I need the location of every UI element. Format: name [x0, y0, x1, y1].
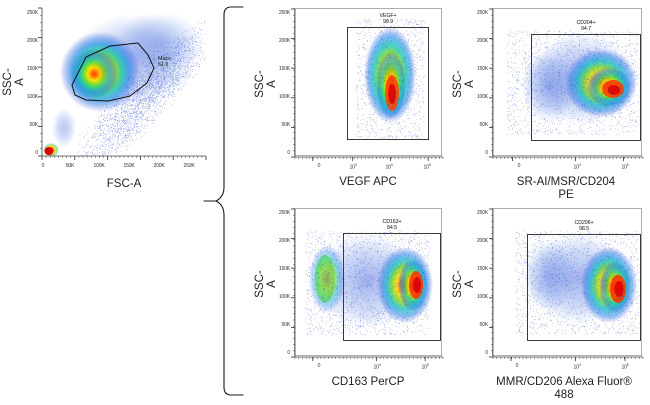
- cd163-gate-rect[interactable]: [343, 233, 441, 341]
- cd204-ytick-0: 0: [466, 150, 488, 156]
- parent-ytick-250k: 250K: [16, 10, 38, 16]
- cd204-xtick-1e5-exp: 5: [627, 163, 629, 167]
- parent-ytick-100k: 100K: [16, 94, 38, 100]
- vegf-xtick-1e4-exp: 4: [391, 163, 393, 167]
- cd206-xtick-0: 0: [508, 363, 526, 369]
- parent-xtick-50k: 50K: [59, 163, 81, 169]
- cd206-y-axis-line1: SSC-: [452, 270, 464, 297]
- cd206-gate-rect[interactable]: [527, 234, 641, 341]
- cd163-ytick-100k: 100K: [268, 294, 290, 300]
- parent-ytick-50k: 50K: [16, 122, 38, 128]
- cd163-y-axis-line1: SSC-: [254, 270, 266, 297]
- cd204-gate-label: CD204+ 94.7: [531, 20, 641, 32]
- vegf-ytick-50k: 50K: [268, 122, 290, 128]
- cd163-gate-value: 84.5: [387, 225, 397, 231]
- panel-parent-fsc-ssc: SSC- A 250K 200K 150K 100K 50K 0: [0, 0, 215, 200]
- vegf-gate-name: VEGF+: [379, 13, 396, 19]
- cd206-gate-value: 98.5: [579, 226, 589, 232]
- vegf-x-axis-line1: VEGF APC: [339, 176, 397, 188]
- cd163-gate-label: CD163+ 84.5: [343, 219, 441, 231]
- vegf-xtick-1e3-exp: 3: [355, 163, 357, 167]
- vegf-y-axis-line1: SSC-: [254, 70, 266, 97]
- panel-cd163: SSC- A 250K 200K 150K 100K 50K 0: [248, 200, 444, 405]
- vegf-ytick-150k: 150K: [268, 66, 290, 72]
- vegf-plot-area: VEGF+ 99.9: [294, 8, 442, 156]
- vegf-xtick-1e3: 103: [344, 163, 362, 171]
- cd204-plot-area: CD204+ 94.7: [492, 8, 642, 156]
- cd163-ytick-200k: 200K: [268, 238, 290, 244]
- cd206-gate-label: CD206+ 98.5: [527, 220, 641, 232]
- cd206-x-axis-title: MMR/CD206 Alexa Fluor® 488: [478, 376, 650, 401]
- flow-cytometry-figure: SSC- A 250K 200K 150K 100K 50K 0: [0, 0, 650, 405]
- curly-brace-icon: [213, 4, 253, 400]
- parent-xtick-250k: 250K: [177, 163, 201, 169]
- parent-xtick-200k: 200K: [147, 163, 171, 169]
- brace-connector: [213, 4, 253, 400]
- cd163-gate-name: CD163+: [383, 219, 402, 225]
- cd163-xtick-1e4-exp: 4: [379, 363, 381, 367]
- cd163-x-axis-title: CD163 PerCP: [294, 376, 442, 389]
- vegf-ytick-0: 0: [268, 150, 290, 156]
- cd163-ytick-0: 0: [268, 350, 290, 356]
- cd206-ytick-0: 0: [466, 350, 488, 356]
- cd204-xtick-1e5: 105: [616, 163, 634, 171]
- cd163-xtick-1e4: 104: [368, 363, 386, 371]
- parent-xtick-150k: 150K: [117, 163, 141, 169]
- parent-y-axis-line1: SSC-: [2, 68, 14, 95]
- cd204-xtick-0: 0: [510, 163, 528, 169]
- cd163-xtick-0: 0: [310, 363, 328, 369]
- cd204-xtick-1e4: 104: [568, 163, 586, 171]
- cd206-ytick-200k: 200K: [466, 238, 488, 244]
- cd204-ytick-250k: 250K: [466, 10, 488, 16]
- cd206-x-axis-line1: MMR/CD206 Alexa Fluor®: [496, 376, 632, 388]
- cd204-ytick-50k: 50K: [466, 122, 488, 128]
- cd163-x-axis-line1: CD163 PerCP: [332, 376, 405, 388]
- vegf-xtick-1e5: 105: [418, 163, 436, 171]
- cd204-ytick-200k: 200K: [466, 38, 488, 44]
- cd206-ytick-150k: 150K: [466, 266, 488, 272]
- parent-x-axis-title: FSC-A: [42, 178, 206, 191]
- parent-ytick-0: 0: [16, 150, 38, 156]
- vegf-xtick-0: 0: [310, 163, 328, 169]
- parent-gate-value: 61.1: [158, 62, 169, 68]
- cd206-xtick-1e5-exp: 5: [627, 363, 629, 367]
- cd163-ytick-250k: 250K: [268, 210, 290, 216]
- panel-vegf: SSC- A 250K 200K 150K 100K 50K 0: [248, 0, 444, 200]
- vegf-ytick-100k: 100K: [268, 94, 290, 100]
- parent-gate-name: Macs: [158, 56, 171, 62]
- cd206-xtick-1e4-exp: 4: [579, 363, 581, 367]
- cd204-ytick-150k: 150K: [466, 66, 488, 72]
- cd206-x-axis-line2: 488: [478, 389, 650, 402]
- cd206-xtick-1e4: 104: [568, 363, 586, 371]
- cd204-y-axis-line1: SSC-: [452, 70, 464, 97]
- cd204-gate-rect[interactable]: [531, 34, 641, 141]
- vegf-ytick-250k: 250K: [268, 10, 290, 16]
- parent-xtick-100k: 100K: [87, 163, 111, 169]
- cd206-xtick-1e5: 105: [616, 363, 634, 371]
- cd204-x-axis-title: SR-AI/MSR/CD204 PE: [486, 176, 646, 201]
- parent-gate-label: Macs 61.1: [158, 56, 171, 69]
- cd163-ytick-50k: 50K: [268, 322, 290, 328]
- parent-ytick-200k: 200K: [16, 38, 38, 44]
- cd163-plot-area: CD163+ 84.5: [294, 208, 442, 356]
- parent-ytick-150k: 150K: [16, 66, 38, 72]
- vegf-xtick-1e5-exp: 5: [429, 163, 431, 167]
- vegf-x-axis-title: VEGF APC: [294, 176, 442, 189]
- cd204-gate-name: CD204+: [577, 20, 596, 26]
- cd204-ytick-100k: 100K: [466, 94, 488, 100]
- panel-cd206: SSC- A 250K 200K 150K 100K 50K 0: [446, 200, 650, 405]
- cd204-gate-value: 94.7: [581, 26, 591, 32]
- vegf-gate-rect[interactable]: [347, 27, 429, 140]
- cd206-ytick-250k: 250K: [466, 210, 488, 216]
- parent-plot-area: Macs 61.1: [42, 8, 206, 156]
- parent-xtick-0: 0: [33, 163, 53, 169]
- panel-cd204: SSC- A 250K 200K 150K 100K 50K 0: [446, 0, 650, 205]
- cd206-ytick-50k: 50K: [466, 322, 488, 328]
- cd206-gate-name: CD206+: [575, 220, 594, 226]
- cd163-xtick-1e5-exp: 5: [427, 363, 429, 367]
- cd204-x-axis-line1: SR-AI/MSR/CD204: [517, 176, 615, 188]
- vegf-gate-value: 99.9: [383, 19, 393, 25]
- vegf-ytick-200k: 200K: [268, 38, 290, 44]
- cd163-xtick-1e5: 105: [416, 363, 434, 371]
- cd206-ytick-100k: 100K: [466, 294, 488, 300]
- cd204-xtick-1e4-exp: 4: [579, 163, 581, 167]
- cd206-plot-area: CD206+ 98.5: [492, 208, 642, 356]
- parent-gate-polygon[interactable]: [42, 8, 206, 156]
- vegf-xtick-1e4: 104: [380, 163, 398, 171]
- cd163-ytick-150k: 150K: [268, 266, 290, 272]
- vegf-gate-label: VEGF+ 99.9: [347, 13, 429, 25]
